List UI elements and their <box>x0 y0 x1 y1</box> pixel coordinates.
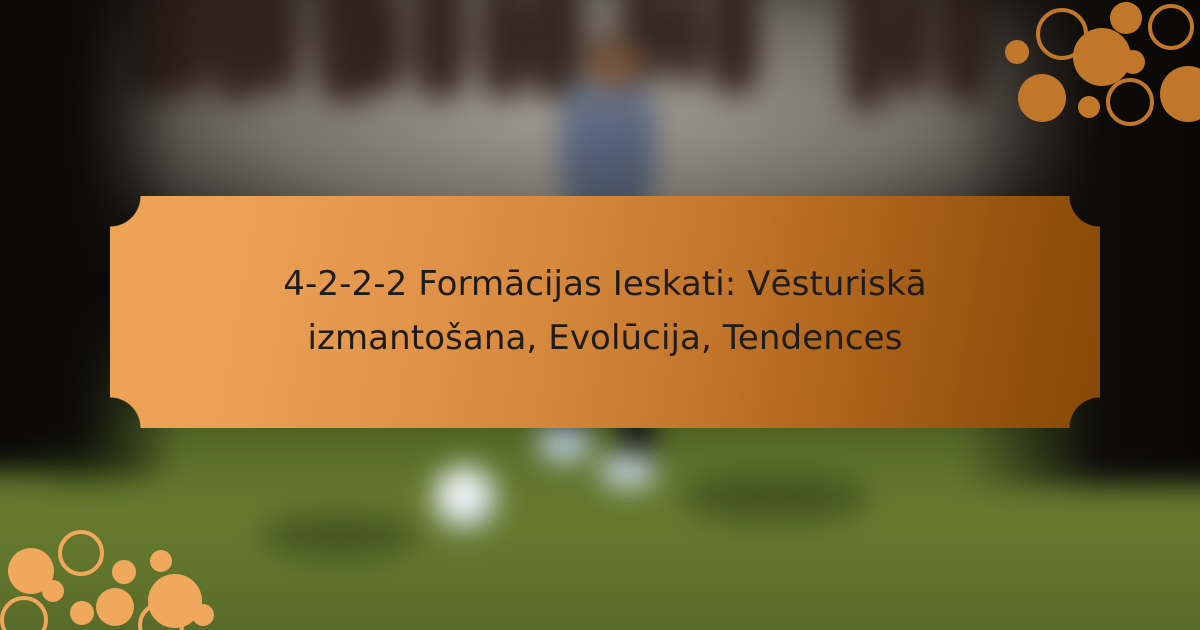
turf-smudge-2 <box>20 446 160 484</box>
decor-circle-bl-1 <box>58 530 104 576</box>
crowd-figure-7 <box>480 0 528 98</box>
turf-smudge-0 <box>260 512 420 558</box>
crowd-figure-12 <box>844 0 890 110</box>
crowd-figure-10 <box>666 0 704 82</box>
decor-circle-tr-7 <box>1106 78 1154 126</box>
page-title: 4-2-2-2 Formācijas Ieskati: Vēsturiskāiz… <box>191 258 1018 365</box>
decor-circle-tr-2 <box>1018 74 1066 122</box>
player-boot-right <box>600 454 656 488</box>
turf-smudge-1 <box>680 472 870 524</box>
crowd-figure-13 <box>890 0 930 94</box>
decor-circle-tr-0 <box>1005 40 1029 64</box>
decor-circle-tr-6 <box>1121 50 1145 74</box>
decor-circle-bl-3 <box>42 580 64 602</box>
decor-circle-bl-7 <box>150 550 172 572</box>
share-card: 4-2-2-2 Formācijas Ieskati: Vēsturiskāiz… <box>0 0 1200 630</box>
player-head <box>586 34 640 92</box>
football-ball <box>434 466 496 528</box>
decor-circle-tr-4 <box>1078 96 1100 118</box>
decor-circle-tr-5 <box>1110 2 1142 34</box>
decor-circle-bl-10 <box>192 604 214 626</box>
crowd-figure-5 <box>362 0 404 92</box>
crowd-figure-6 <box>412 0 468 98</box>
decor-circle-bl-6 <box>96 588 134 626</box>
player-boot-left <box>538 426 590 462</box>
decor-circle-bl-5 <box>112 560 136 584</box>
decor-circle-tr-8 <box>1148 4 1194 50</box>
decor-circle-bl-4 <box>70 601 94 625</box>
crowd-figure-11 <box>708 0 760 94</box>
title-banner: 4-2-2-2 Formācijas Ieskati: Vēsturiskāiz… <box>110 196 1100 428</box>
crowd-figure-3 <box>260 0 300 92</box>
